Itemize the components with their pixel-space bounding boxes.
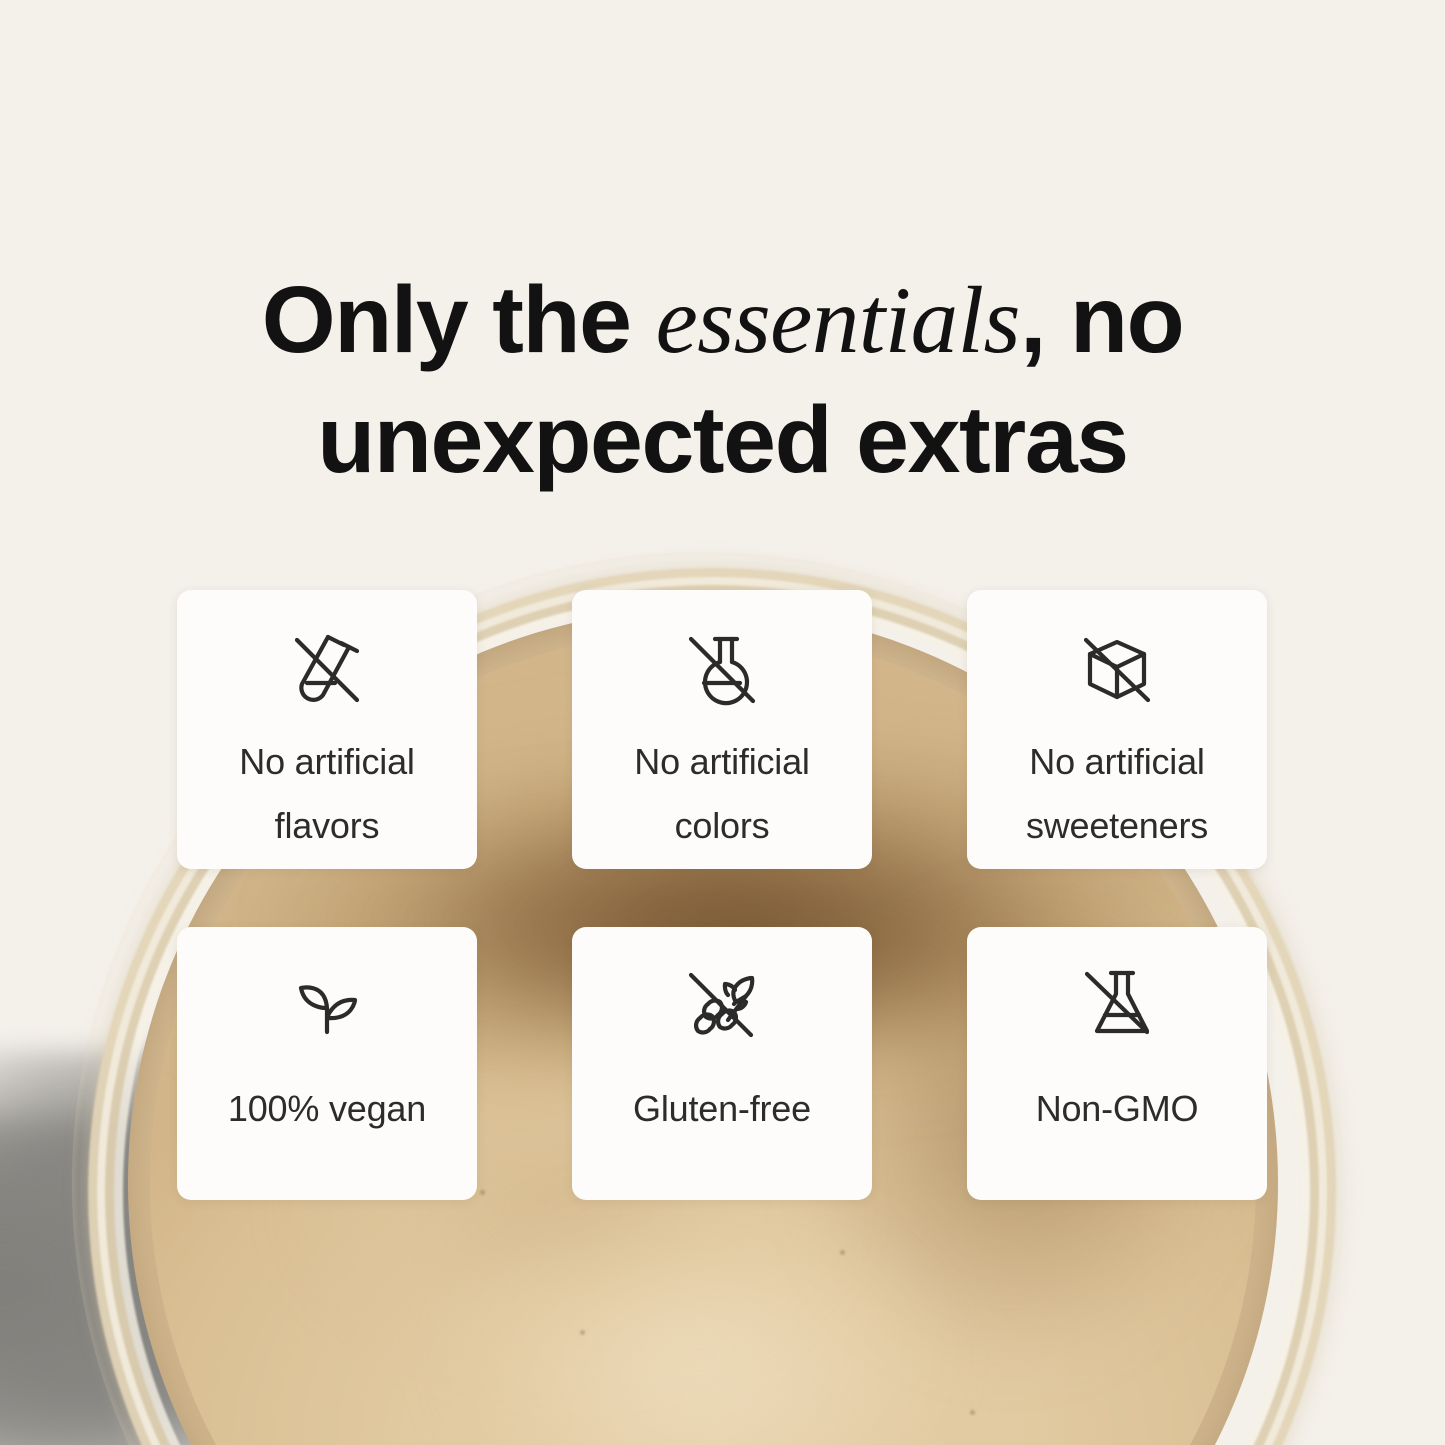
badge-label: No artificial flavors [196,730,458,858]
badge-label: No artificial colors [591,730,853,858]
no-test-tube-icon [283,624,371,716]
badge-label-line-2: sweeteners [1026,805,1208,846]
badge-label: 100% vegan [196,1077,458,1141]
badge-card-no-artificial-flavors: No artificial flavors [177,590,477,869]
badge-label-line-1: No artificial [634,741,809,782]
headline-emphasis: essentials [656,267,1020,373]
no-erlenmeyer-flask-icon [1075,961,1159,1047]
badge-label: No artificial sweeteners [986,730,1248,858]
page-title: Only the essentials, no unexpected extra… [0,260,1445,500]
no-wheat-icon [680,961,764,1047]
badge-card-no-artificial-colors: No artificial colors [572,590,872,869]
badge-label-line-2: colors [675,805,770,846]
sprout-leaf-icon [285,961,369,1047]
badge-card-vegan: 100% vegan [177,927,477,1200]
badge-card-no-artificial-sweeteners: No artificial sweeteners [967,590,1267,869]
cream-speck [840,1250,845,1255]
badge-label: Non-GMO [986,1077,1248,1141]
promo-graphic: Only the essentials, no unexpected extra… [0,0,1445,1445]
no-sugar-cube-icon [1073,624,1161,716]
badge-card-non-gmo: Non-GMO [967,927,1267,1200]
headline-part-1: Only the [262,267,656,373]
badge-label-line-2: flavors [275,805,380,846]
badge-label-line-1: No artificial [239,741,414,782]
cream-speck [580,1330,585,1335]
badge-label-line-1: No artificial [1029,741,1204,782]
badge-label: Gluten-free [591,1077,853,1141]
benefit-badge-grid: No artificial flavors No artificial colo… [177,590,1268,1200]
cream-speck [970,1410,975,1415]
no-round-flask-icon [678,624,766,716]
badge-card-gluten-free: Gluten-free [572,927,872,1200]
